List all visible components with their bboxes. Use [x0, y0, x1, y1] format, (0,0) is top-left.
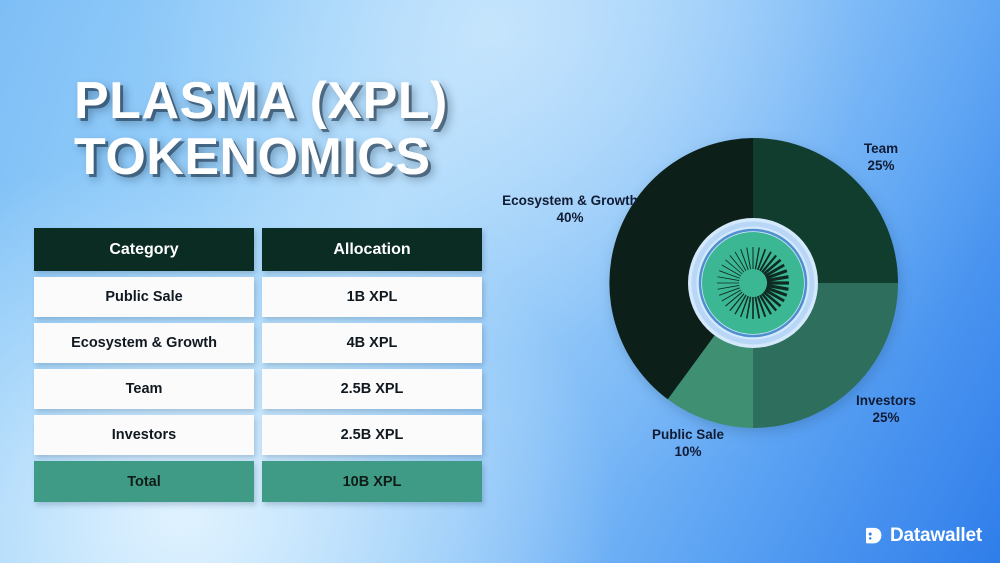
chart-label-team: Team 25% [826, 140, 936, 174]
page-title-line-2: TOKENOMICS [74, 129, 544, 185]
cell-category: Public Sale [34, 277, 254, 317]
cell-total-allocation: 10B XPL [262, 461, 482, 502]
cell-allocation: 1B XPL [262, 277, 482, 317]
cell-category: Team [34, 369, 254, 409]
table-row: Team 2.5B XPL [34, 369, 482, 409]
infographic-canvas: PLASMA (XPL) TOKENOMICS Category Allocat… [0, 0, 1000, 563]
table-total-row: Total 10B XPL [34, 461, 482, 502]
chart-label-team-percent: 25% [826, 157, 936, 174]
chart-label-investors: Investors 25% [826, 392, 946, 426]
page-title: PLASMA (XPL) TOKENOMICS [74, 73, 544, 185]
chart-label-ecosystem-growth: Ecosystem & Growth 40% [455, 192, 685, 226]
cell-category: Ecosystem & Growth [34, 323, 254, 363]
chart-label-investors-name: Investors [826, 392, 946, 409]
chart-label-investors-percent: 25% [826, 409, 946, 426]
tokenomics-donut-chart: Ecosystem & Growth 40% Team 25% Investor… [598, 128, 908, 438]
cell-allocation: 2.5B XPL [262, 415, 482, 455]
chart-label-ecosystem-growth-percent: 40% [455, 209, 685, 226]
table-row: Investors 2.5B XPL [34, 415, 482, 455]
datawallet-brand: Datawallet [863, 525, 982, 547]
datawallet-droplet-icon [863, 526, 883, 546]
table-row: Public Sale 1B XPL [34, 277, 482, 317]
table-header-row: Category Allocation [34, 228, 482, 271]
column-header-allocation: Allocation [262, 228, 482, 271]
chart-label-team-name: Team [826, 140, 936, 157]
table-row: Ecosystem & Growth 4B XPL [34, 323, 482, 363]
column-header-category: Category [34, 228, 254, 271]
chart-label-ecosystem-growth-name: Ecosystem & Growth [455, 192, 685, 209]
cell-category: Investors [34, 415, 254, 455]
cell-allocation: 4B XPL [262, 323, 482, 363]
chart-label-public-sale: Public Sale 10% [618, 426, 758, 460]
chart-label-public-sale-percent: 10% [618, 443, 758, 460]
page-title-line-1: PLASMA (XPL) [74, 73, 544, 129]
chart-label-public-sale-name: Public Sale [618, 426, 758, 443]
allocation-table: Category Allocation Public Sale 1B XPL E… [34, 228, 482, 508]
cell-allocation: 2.5B XPL [262, 369, 482, 409]
datawallet-wordmark: Datawallet [890, 525, 982, 547]
cell-total-label: Total [34, 461, 254, 502]
